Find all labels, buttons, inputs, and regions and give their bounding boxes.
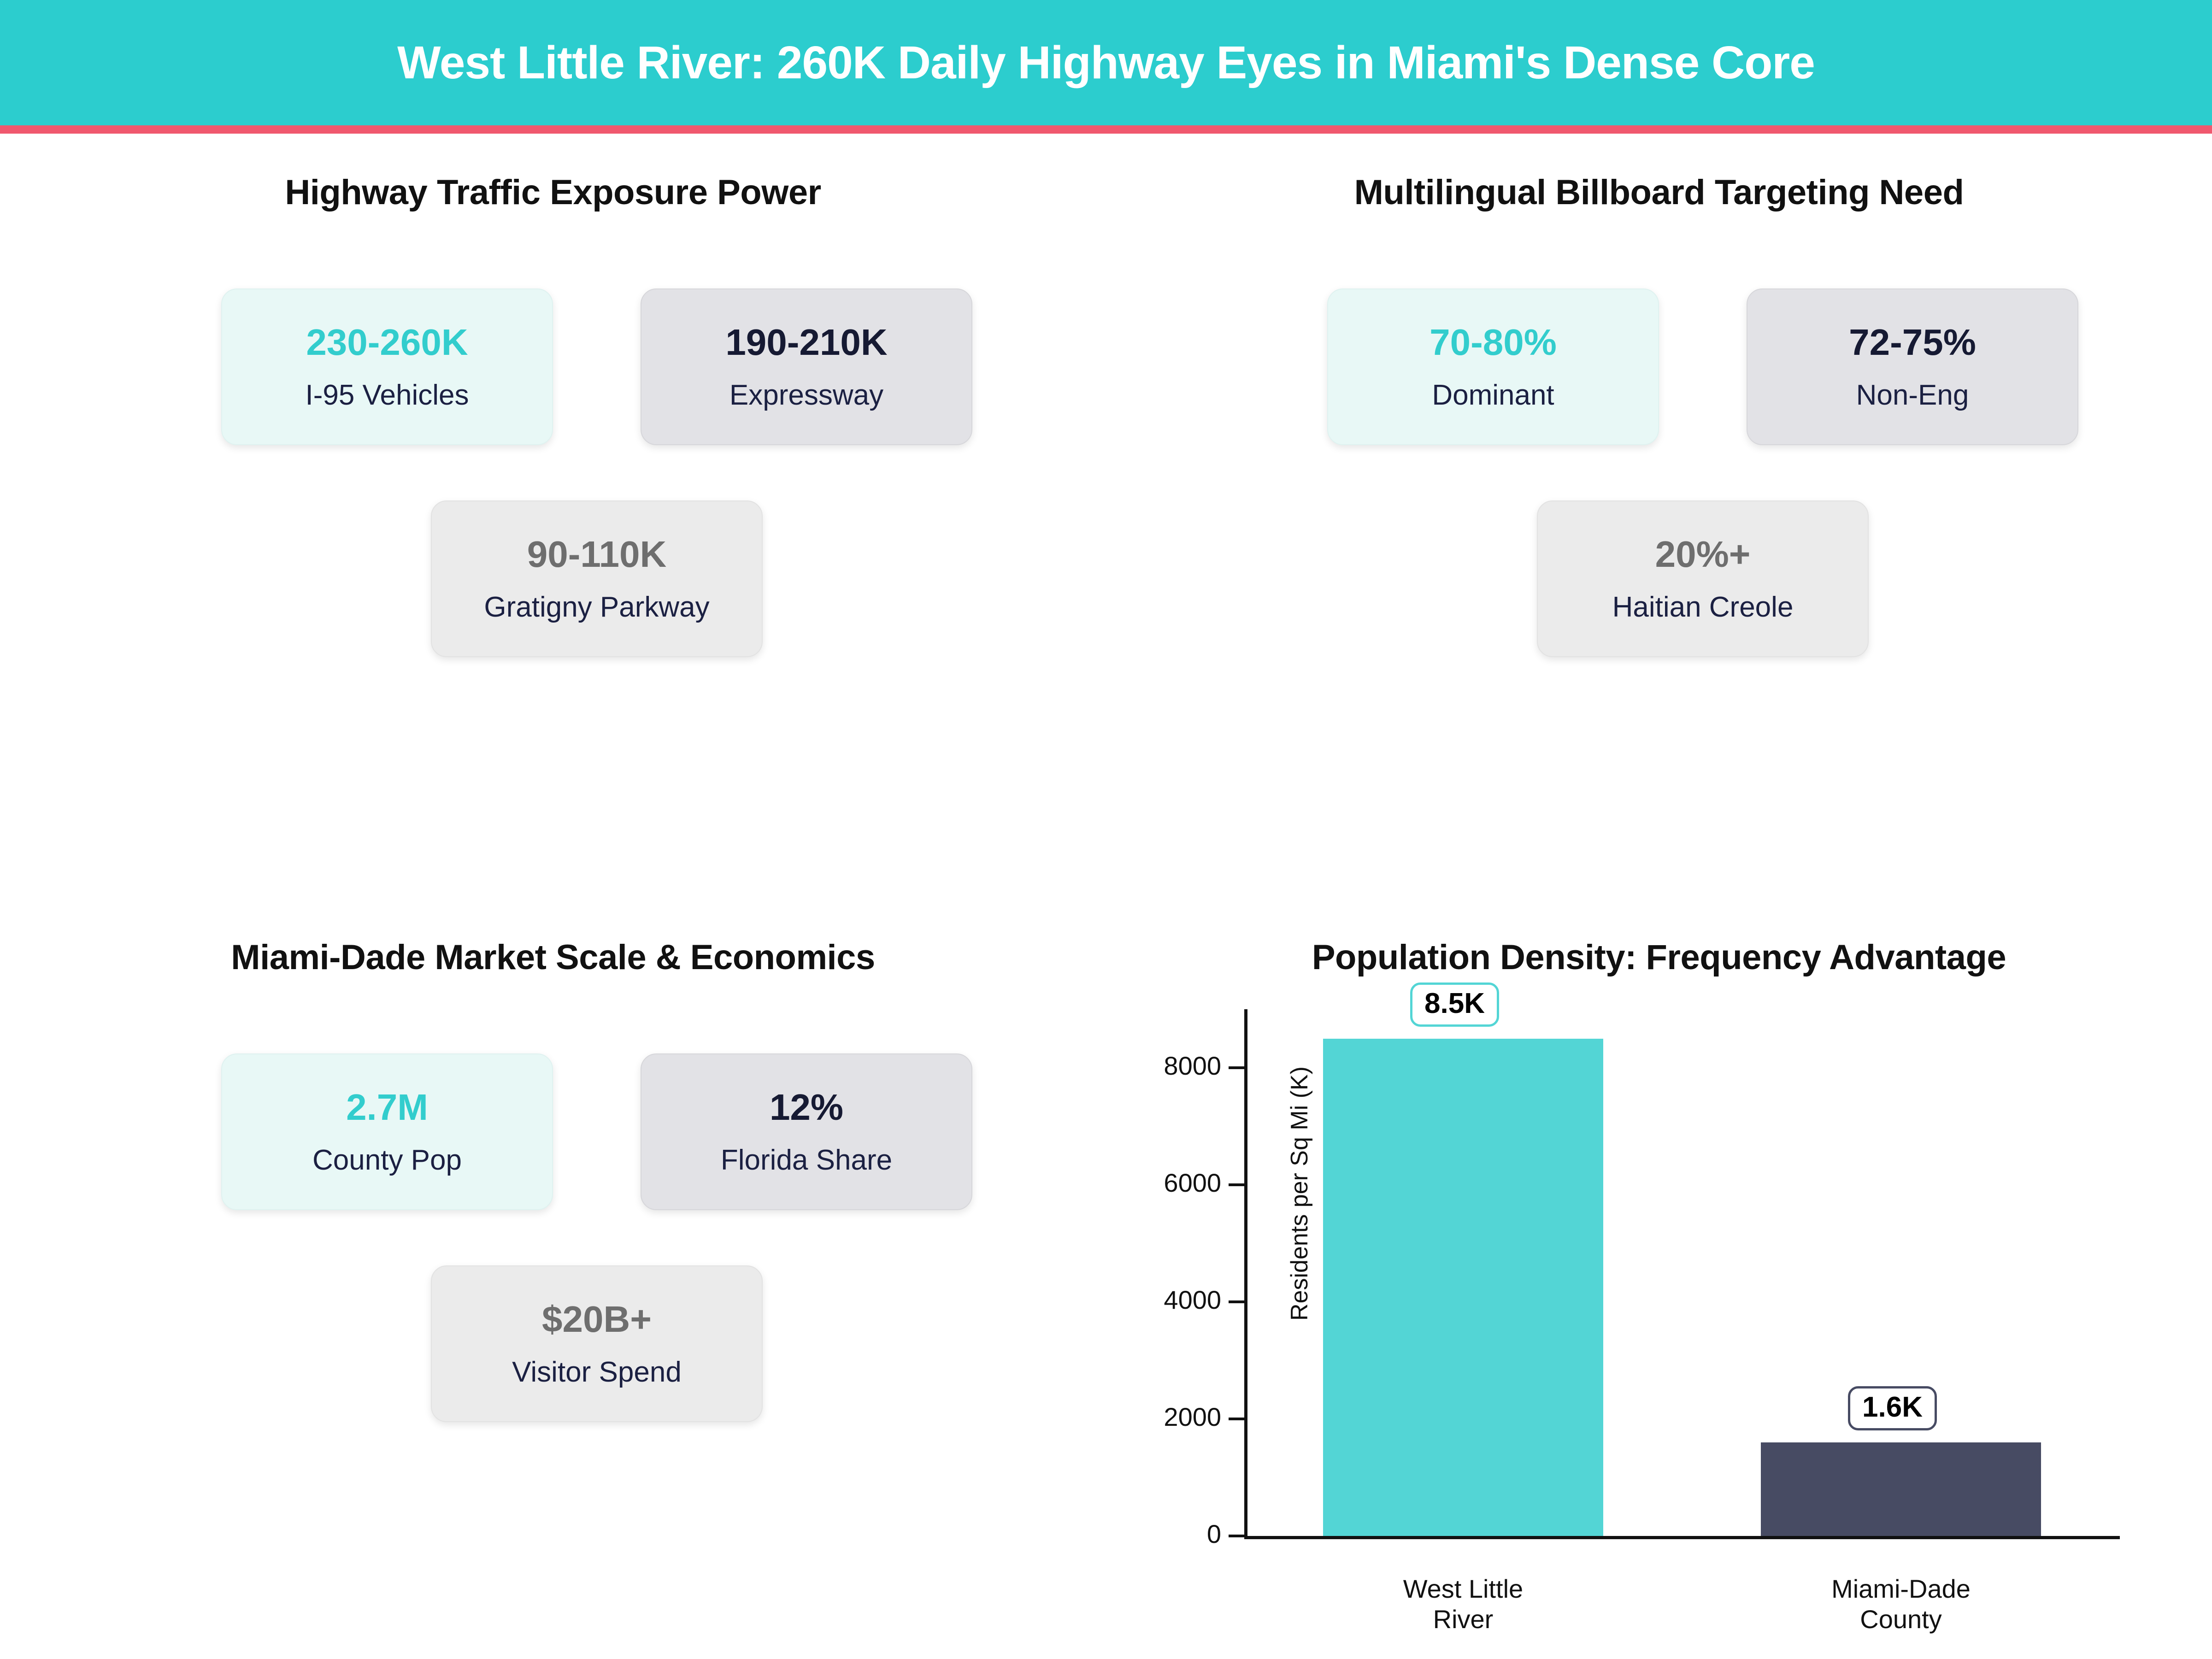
kpi-value: 72-75% [1849, 324, 1976, 361]
chart-bar-value-label: 8.5K [1410, 982, 1499, 1027]
chart-x-tick-label-line: West Little [1279, 1574, 1647, 1604]
kpi-label: Dominant [1432, 381, 1554, 410]
chart-y-tick-label: 6000 [1078, 1170, 1221, 1196]
kpi-card-group-multilingual: 70-80% Dominant 72-75% Non-Eng 20%+ Hait… [1106, 288, 2212, 703]
chart-y-tick-label: 4000 [1078, 1287, 1221, 1313]
dashboard-grid: Highway Traffic Exposure Power 230-260K … [0, 134, 2212, 1659]
chart-y-tick-mark [1229, 1535, 1244, 1537]
kpi-label: Expressway [729, 381, 883, 410]
kpi-value: 12% [770, 1089, 843, 1126]
chart-x-tick-label-line: River [1279, 1604, 1647, 1635]
kpi-card-i95-vehicles[interactable]: 230-260K I-95 Vehicles [221, 288, 553, 445]
chart-x-tick-label: Miami-DadeCounty [1717, 1574, 2085, 1635]
header-accent-rule [0, 125, 2212, 134]
kpi-value: 2.7M [346, 1089, 428, 1126]
panel-title-population-density: Population Density: Frequency Advantage [1106, 894, 2212, 975]
kpi-value: 90-110K [527, 536, 666, 573]
chart-y-axis-line [1244, 1009, 1247, 1539]
kpi-value: 190-210K [725, 324, 887, 361]
panel-population-density: Population Density: Frequency Advantage … [1106, 894, 2212, 1659]
chart-y-tick-label: 8000 [1078, 1053, 1221, 1079]
chart-bar[interactable] [1323, 1039, 1603, 1536]
kpi-label: Florida Share [721, 1146, 892, 1175]
chart-y-tick-mark [1229, 1300, 1244, 1303]
kpi-card-group-highway-traffic: 230-260K I-95 Vehicles 190-210K Expressw… [0, 288, 1106, 703]
chart-y-tick-label: 0 [1078, 1521, 1221, 1547]
kpi-label: Non-Eng [1856, 381, 1969, 410]
kpi-card-gratigny-parkway[interactable]: 90-110K Gratigny Parkway [431, 500, 763, 657]
chart-y-tick-mark [1229, 1066, 1244, 1069]
panel-title-multilingual-targeting: Multilingual Billboard Targeting Need [1106, 134, 2212, 210]
chart-bar-value-label: 1.6K [1848, 1386, 1937, 1430]
kpi-card-visitor-spend[interactable]: $20B+ Visitor Spend [431, 1265, 763, 1422]
panel-multilingual-targeting: Multilingual Billboard Targeting Need 70… [1106, 134, 2212, 894]
kpi-value: 20%+ [1655, 536, 1751, 573]
kpi-card-haitian-creole[interactable]: 20%+ Haitian Creole [1537, 500, 1869, 657]
page-title: West Little River: 260K Daily Highway Ey… [397, 40, 1815, 86]
panel-title-market-scale: Miami-Dade Market Scale & Economics [0, 894, 1106, 975]
kpi-card-dominant[interactable]: 70-80% Dominant [1327, 288, 1659, 445]
kpi-card-florida-share[interactable]: 12% Florida Share [641, 1053, 972, 1210]
chart-y-tick-mark [1229, 1183, 1244, 1186]
kpi-value: $20B+ [542, 1301, 652, 1338]
panel-title-highway-traffic: Highway Traffic Exposure Power [0, 134, 1106, 210]
kpi-label: County Pop [312, 1146, 462, 1175]
kpi-card-county-pop[interactable]: 2.7M County Pop [221, 1053, 553, 1210]
panel-market-scale: Miami-Dade Market Scale & Economics 2.7M… [0, 894, 1106, 1659]
kpi-value: 230-260K [306, 324, 468, 361]
panel-highway-traffic: Highway Traffic Exposure Power 230-260K … [0, 134, 1106, 894]
header-bar: West Little River: 260K Daily Highway Ey… [0, 0, 2212, 125]
chart-y-tick-label: 2000 [1078, 1404, 1221, 1430]
chart-plot-area: 020004000600080008.5KWest LittleRiver1.6… [1244, 1009, 2120, 1539]
kpi-card-group-market-scale: 2.7M County Pop 12% Florida Share $20B+ … [0, 1053, 1106, 1468]
kpi-label: Haitian Creole [1612, 593, 1794, 622]
chart-x-tick-label-line: Miami-Dade [1717, 1574, 2085, 1604]
chart-x-tick-label-line: County [1717, 1604, 2085, 1635]
kpi-label: Visitor Spend [512, 1358, 682, 1387]
kpi-value: 70-80% [1430, 324, 1557, 361]
chart-y-tick-mark [1229, 1418, 1244, 1420]
kpi-card-non-english[interactable]: 72-75% Non-Eng [1747, 288, 2078, 445]
chart-bar[interactable] [1761, 1442, 2041, 1536]
kpi-label: I-95 Vehicles [306, 381, 469, 410]
population-density-bar-chart: Residents per Sq Mi (K) 0200040006000800… [1106, 982, 2212, 1659]
chart-x-axis-line [1244, 1536, 2120, 1539]
chart-x-tick-label: West LittleRiver [1279, 1574, 1647, 1635]
kpi-card-expressway[interactable]: 190-210K Expressway [641, 288, 972, 445]
kpi-label: Gratigny Parkway [484, 593, 709, 622]
